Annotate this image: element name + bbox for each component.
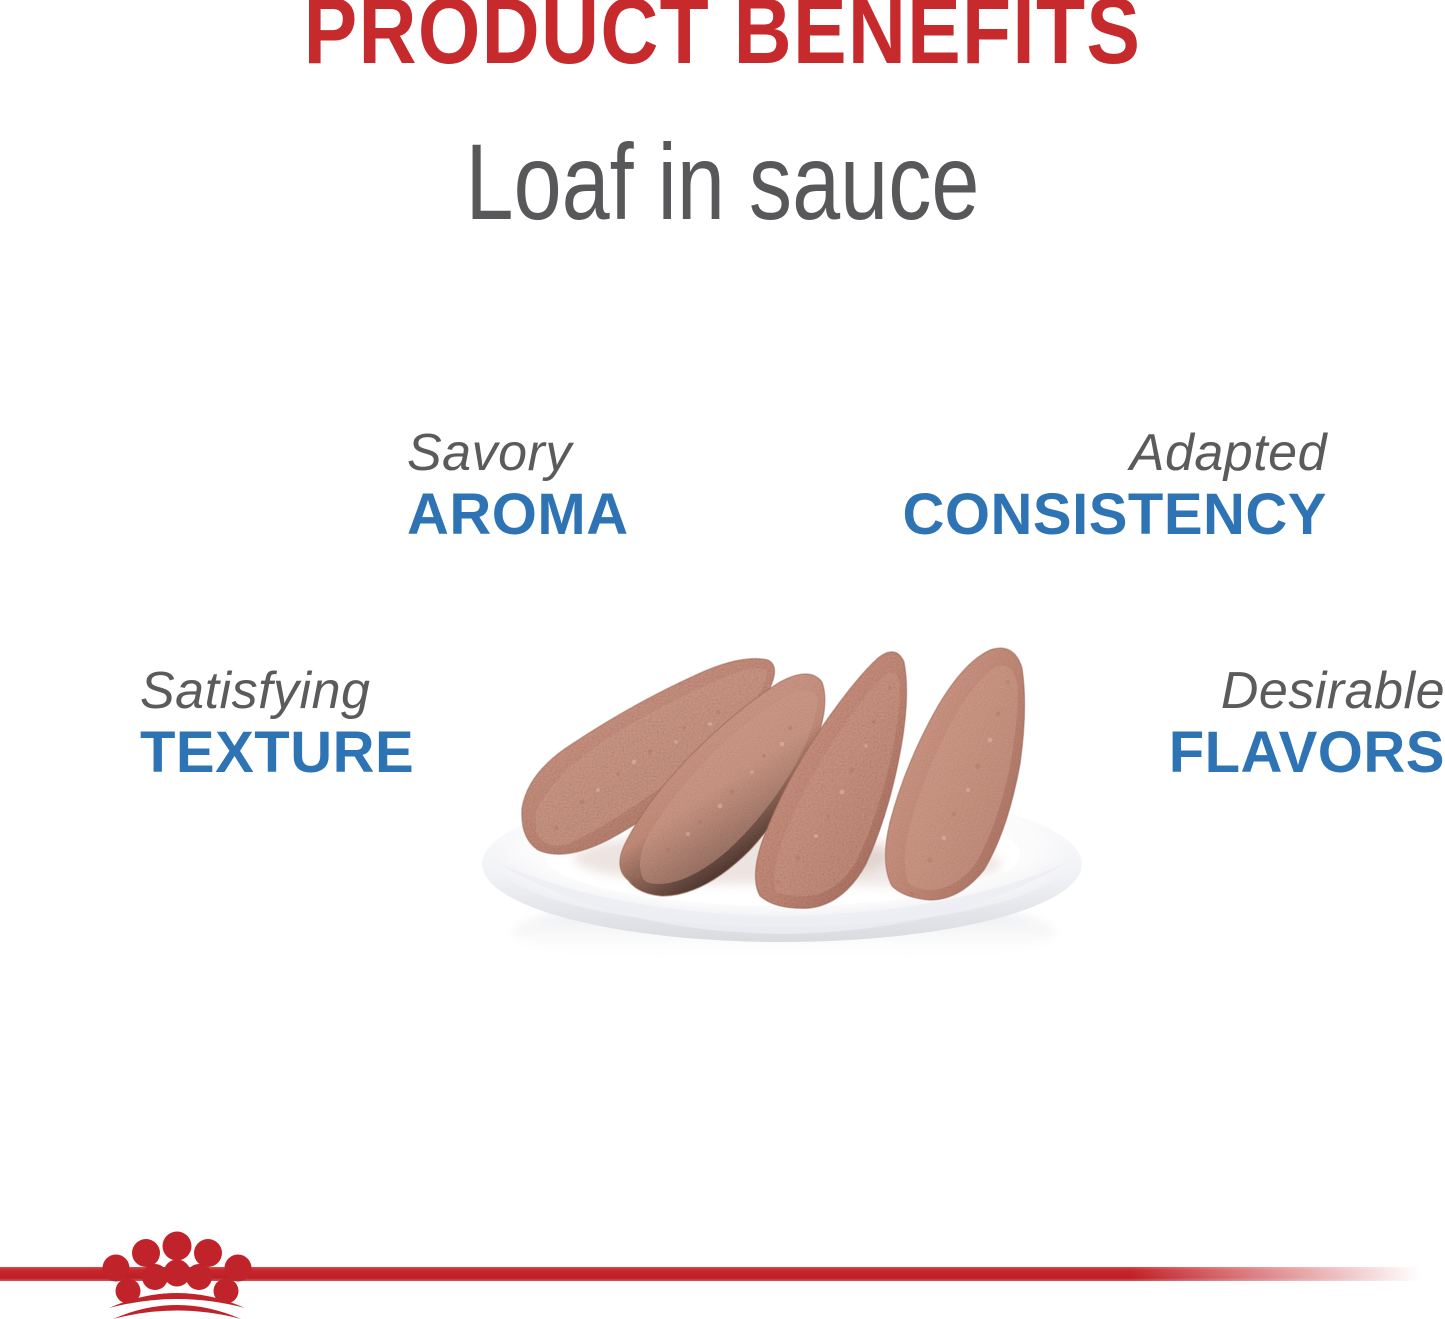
page-title: PRODUCT BENEFITS (105, 0, 1340, 78)
benefit-aroma-noun: AROMA (407, 486, 629, 544)
benefit-flavors: Desirable FLAVORS (1169, 665, 1445, 782)
header-section: PRODUCT BENEFITS Loaf in sauce (0, 0, 1445, 250)
benefit-texture-adjective: Satisfying (140, 665, 414, 717)
page-subtitle: Loaf in sauce (145, 128, 1301, 236)
benefit-consistency-adjective: Adapted (903, 427, 1327, 479)
loaf-in-sauce-on-plate-image (432, 596, 1122, 968)
benefit-aroma: Savory AROMA (407, 427, 629, 544)
benefit-texture: Satisfying TEXTURE (140, 665, 414, 782)
royal-canin-crown-logo (93, 1220, 261, 1319)
benefit-flavors-noun: FLAVORS (1169, 724, 1445, 782)
footer-section (0, 1219, 1445, 1319)
benefit-aroma-adjective: Savory (407, 427, 629, 479)
benefit-consistency-noun: CONSISTENCY (903, 486, 1327, 544)
footer-rule-right (265, 1267, 1445, 1281)
benefit-texture-noun: TEXTURE (140, 724, 414, 782)
benefit-consistency: Adapted CONSISTENCY (903, 427, 1327, 544)
benefit-flavors-adjective: Desirable (1169, 665, 1445, 717)
